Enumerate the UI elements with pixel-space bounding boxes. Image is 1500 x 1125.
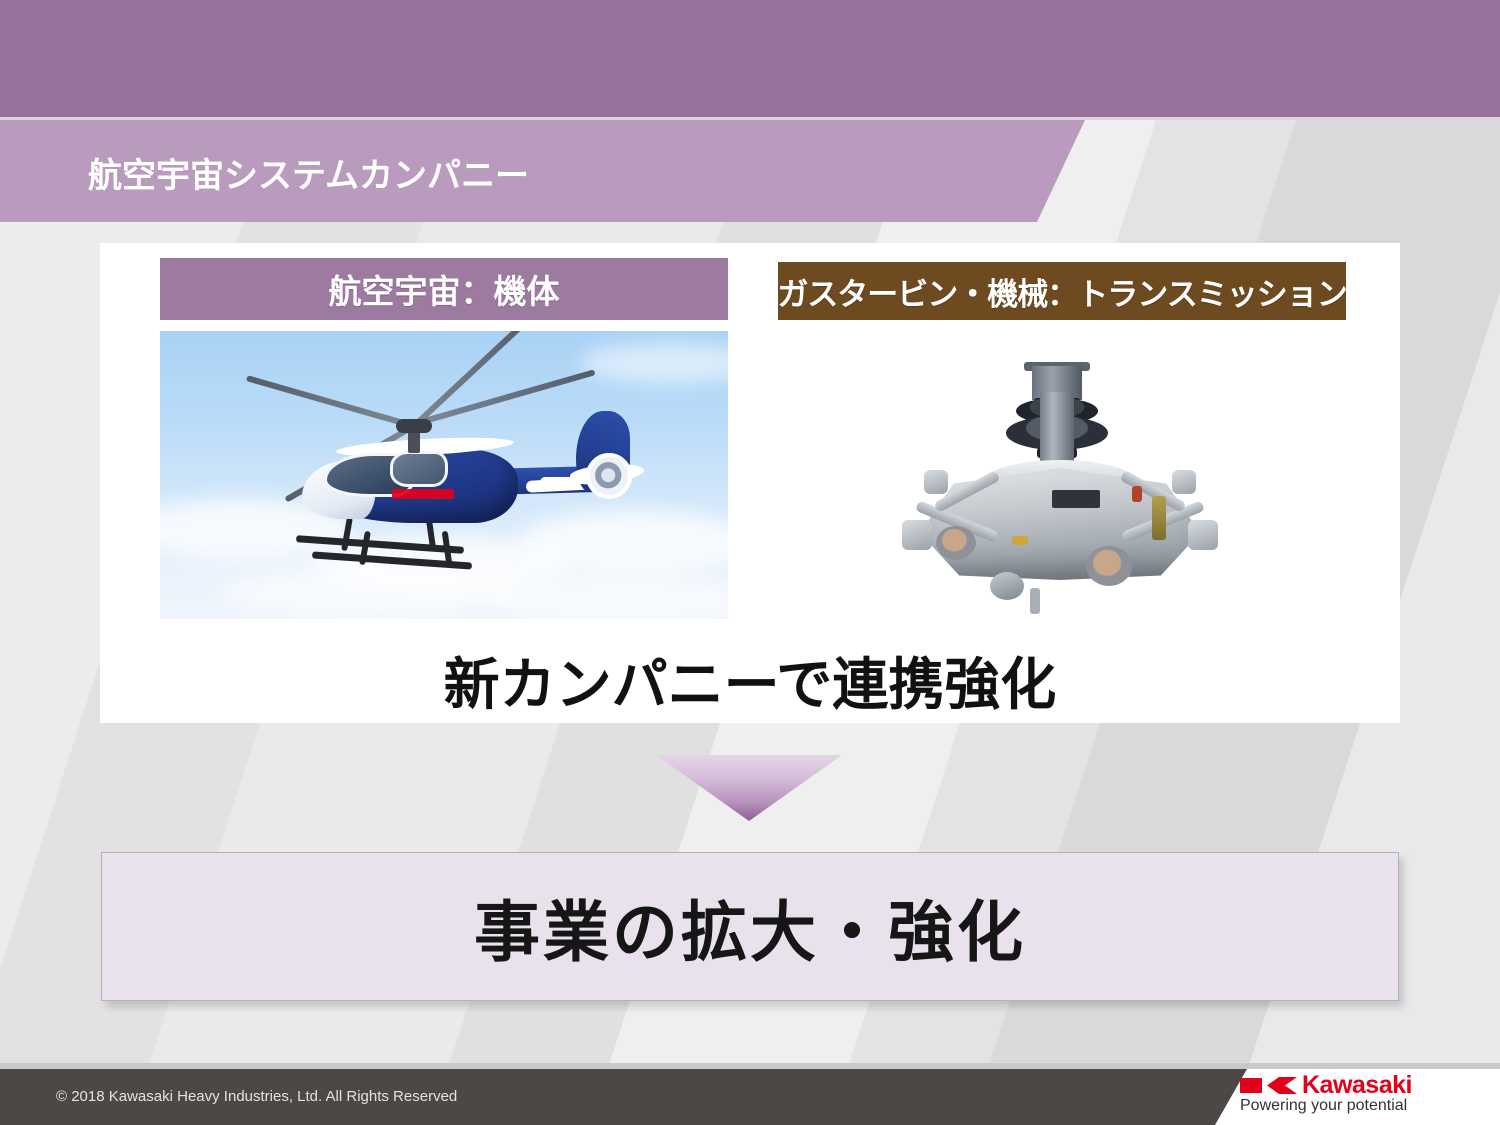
kawasaki-chevron-icon [1267,1077,1297,1094]
gas-turbine-machinery-banner: ガスタービン・機械：トランスミッション [778,262,1346,320]
copyright-text: © 2018 Kawasaki Heavy Industries, Ltd. A… [56,1088,457,1105]
helicopter-illustration [240,391,660,571]
header-divider [0,117,1500,120]
kawasaki-tagline: Powering your potential [1240,1097,1407,1115]
header-bar [0,0,1500,117]
subtitle-label: 航空宇宙システムカンパニー [88,148,529,197]
kawasaki-wordmark: Kawasaki [1302,1073,1412,1098]
kawasaki-flag-icon [1240,1078,1262,1093]
aerospace-airframe-banner-label: 航空宇宙：機体 [329,265,560,313]
gas-turbine-machinery-banner-label: ガスタービン・機械：トランスミッション [777,269,1346,314]
helicopter-photo [160,331,728,619]
slide: 注力する事業・カンパニー組織改編 航空宇宙システムカンパニー 航空宇宙：機体 [0,0,1500,1125]
panel-headline: 新カンパニーで連携強化 [0,640,1500,721]
aerospace-airframe-banner: 航空宇宙：機体 [160,258,728,320]
kawasaki-logo: Kawasaki Powering your potential [1240,1073,1490,1123]
outcome-box: 事業の拡大・強化 [101,852,1399,1001]
transmission-photo [880,340,1240,620]
outcome-label: 事業の拡大・強化 [474,879,1026,975]
